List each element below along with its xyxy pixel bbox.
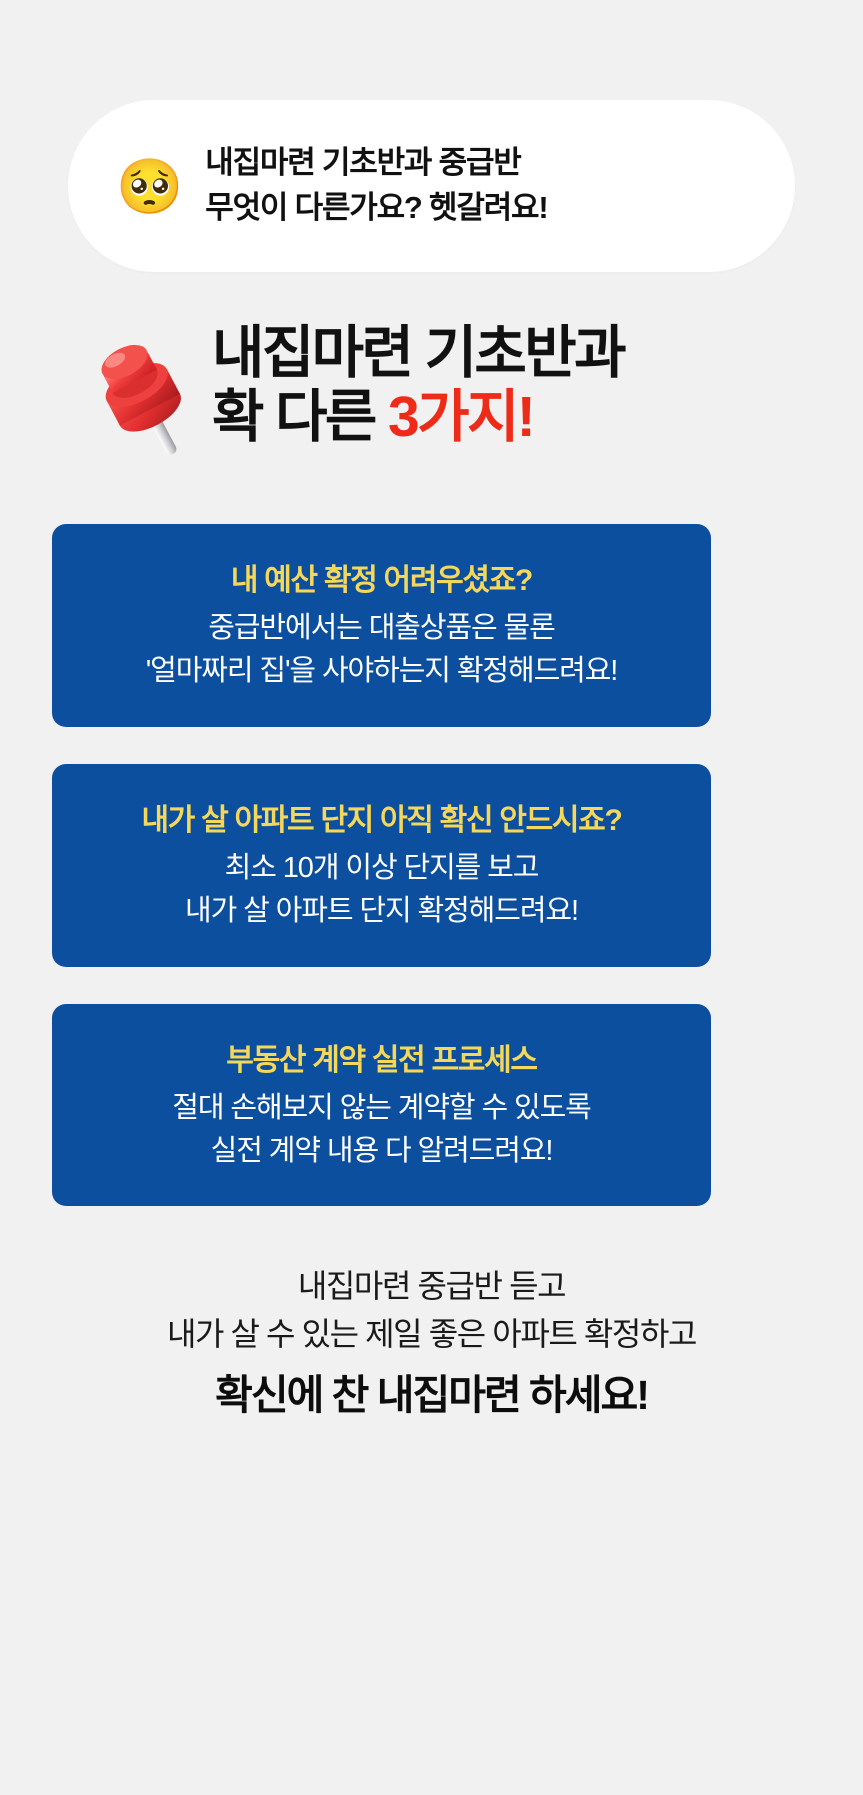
headline-accent-count: 3가지! <box>388 385 533 449</box>
footer-line-1: 내집마련 중급반 듣고 <box>298 1262 565 1310</box>
question-bubble-text: 내집마련 기초반과 중급반 무엇이 다른가요? 헷갈려요! <box>205 143 547 229</box>
card-title: 부동산 계약 실전 프로세스 <box>226 1040 536 1082</box>
card-body-line: 중급반에서는 대출상품은 물론 <box>208 607 554 650</box>
headline-line-2-prefix: 확 다른 <box>212 385 388 449</box>
pleading-face-emoji: 🥺 <box>116 160 183 214</box>
headline-text: 내집마련 기초반과 확 다른 3가지! <box>212 322 624 450</box>
card-body-line: '얼마짜리 집'을 사야하는지 확정해드려요! <box>146 650 618 693</box>
feature-card: 내가 살 아파트 단지 아직 확신 안드시죠? 최소 10개 이상 단지를 보고… <box>52 764 711 967</box>
card-body-line: 실전 계약 내용 다 알려드려요! <box>211 1130 553 1173</box>
headline-line-1: 내집마련 기초반과 <box>212 322 624 386</box>
promo-page: 🥺 내집마련 기초반과 중급반 무엇이 다른가요? 헷갈려요! <box>0 0 863 1795</box>
headline-line-2: 확 다른 3가지! <box>212 386 624 450</box>
footer-line-2: 내가 살 수 있는 제일 좋은 아파트 확정하고 <box>167 1310 696 1358</box>
card-title: 내가 살 아파트 단지 아직 확신 안드시죠? <box>141 800 621 842</box>
question-bubble: 🥺 내집마련 기초반과 중급반 무엇이 다른가요? 헷갈려요! <box>68 100 795 272</box>
card-body-line: 절대 손해보지 않는 계약할 수 있도록 <box>172 1087 591 1130</box>
question-line-2: 무엇이 다른가요? 헷갈려요! <box>205 188 547 229</box>
headline-section: 내집마련 기초반과 확 다른 3가지! <box>0 318 863 478</box>
card-title: 내 예산 확정 어려우셨죠? <box>231 560 532 602</box>
feature-card-list: 내 예산 확정 어려우셨죠? 중급반에서는 대출상품은 물론 '얼마짜리 집'을… <box>52 524 711 1206</box>
footer-cta-line: 확신에 찬 내집마련 하세요! <box>215 1366 648 1425</box>
feature-card: 부동산 계약 실전 프로세스 절대 손해보지 않는 계약할 수 있도록 실전 계… <box>52 1004 711 1207</box>
feature-card: 내 예산 확정 어려우셨죠? 중급반에서는 대출상품은 물론 '얼마짜리 집'을… <box>52 524 711 727</box>
card-body-line: 최소 10개 이상 단지를 보고 <box>225 847 539 890</box>
pushpin-icon <box>78 328 203 463</box>
footer-section: 내집마련 중급반 듣고 내가 살 수 있는 제일 좋은 아파트 확정하고 확신에… <box>0 1262 863 1425</box>
question-line-1: 내집마련 기초반과 중급반 <box>205 143 547 184</box>
card-body-line: 내가 살 아파트 단지 확정해드려요! <box>185 890 578 933</box>
